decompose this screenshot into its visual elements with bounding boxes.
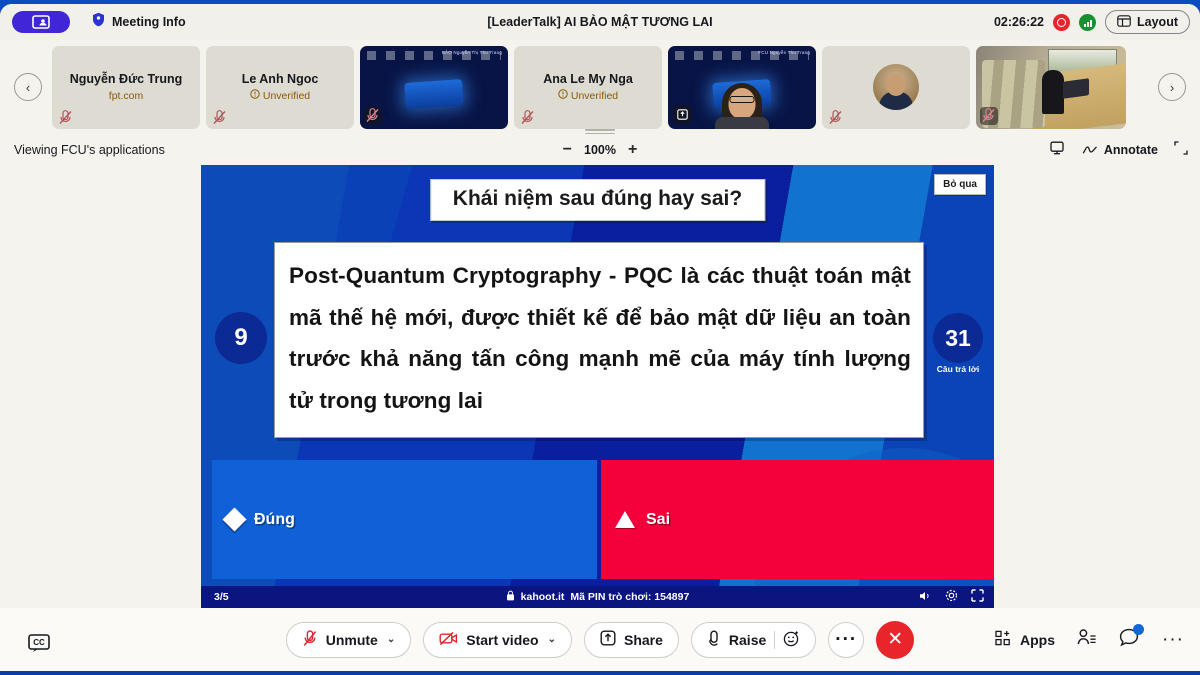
mic-off-icon — [980, 107, 998, 125]
lock-icon — [506, 590, 515, 604]
kahoot-footer: 3/5 kahoot.it Mã PIN trò chơi: 154897 — [201, 586, 994, 608]
closed-captions-button[interactable]: CC — [26, 632, 52, 654]
meeting-window: Meeting Info [LeaderTalk] AI BẢO MẬT TƯƠ… — [0, 4, 1200, 671]
triangle-icon — [615, 511, 635, 528]
kahoot-join-info: kahoot.it Mã PIN trò chơi: 154897 — [201, 590, 994, 604]
meeting-info-button[interactable]: Meeting Info — [92, 12, 186, 32]
participants-button[interactable] — [1077, 628, 1097, 651]
primary-controls: Unmute ⌄ Start video ⌄ Share — [286, 621, 915, 659]
participant-tile[interactable]: Ana Le My Nga Unverified — [514, 46, 662, 129]
participant-tile-video[interactable] — [976, 46, 1126, 129]
zoom-out-button[interactable]: − — [563, 142, 572, 158]
apps-grid-icon — [995, 630, 1012, 650]
unmute-label: Unmute — [326, 632, 378, 648]
chat-bubble-icon — [1119, 634, 1140, 651]
answers-count-value: 31 — [933, 313, 983, 363]
participant-tile[interactable]: Le Anh Ngoc Unverified — [206, 46, 354, 129]
participant-domain: fpt.com — [109, 90, 143, 102]
countdown-timer: 9 — [215, 312, 267, 364]
participant-status: Unverified — [250, 89, 310, 102]
fullscreen-icon[interactable] — [971, 589, 984, 605]
mic-off-icon — [212, 110, 227, 125]
chevron-down-icon[interactable]: ⌄ — [548, 634, 556, 645]
participant-name: Nguyễn Đức Trung — [70, 72, 183, 88]
kahoot-pin: Mã PIN trò chơi: 154897 — [570, 591, 689, 603]
fullscreen-icon[interactable] — [1174, 141, 1188, 160]
share-toolbar-right: Annotate — [1050, 134, 1188, 166]
chevron-right-icon: › — [1170, 80, 1174, 95]
question-card: Post-Quantum Cryptography - PQC là các t… — [274, 242, 924, 438]
viewing-label: Viewing FCU's applications — [14, 143, 165, 157]
chevron-left-icon: ‹ — [26, 80, 30, 95]
control-divider — [774, 631, 775, 649]
participant-tile[interactable] — [822, 46, 970, 129]
mic-off-icon — [302, 630, 318, 650]
view-options-icon[interactable] — [1050, 141, 1066, 160]
title-bar-right: 02:26:22 Layout — [994, 4, 1190, 40]
share-button[interactable]: Share — [584, 622, 679, 658]
participant-filmstrip: ‹ Nguyễn Đức Trung fpt.com Le Anh Ngoc U… — [0, 40, 1200, 134]
answers-count-caption: Câu trả lời — [937, 364, 979, 374]
mic-off-icon — [364, 107, 382, 125]
share-toolbar: Viewing FCU's applications − 100% + Anno… — [0, 134, 1200, 166]
participant-name: Ana Le My Nga — [543, 72, 633, 88]
filmstrip-next-button[interactable]: › — [1158, 73, 1186, 101]
close-icon: ✕ — [887, 628, 903, 651]
unverified-icon — [250, 89, 260, 102]
question-text: Post-Quantum Cryptography - PQC là các t… — [289, 255, 911, 422]
participant-tile-video[interactable]: FCU Nguyễn Thu Trang — [668, 46, 816, 129]
network-quality-icon[interactable] — [1079, 14, 1096, 31]
kahoot-footer-actions — [919, 589, 984, 605]
skip-button[interactable]: Bỏ qua — [934, 174, 986, 195]
gear-icon[interactable] — [945, 589, 958, 605]
camera-off-icon — [439, 631, 458, 649]
question-banner-text: Khái niệm sau đúng hay sai? — [453, 187, 742, 210]
zoom-level-label: 100% — [584, 143, 616, 157]
annotate-pen-icon — [1082, 142, 1098, 159]
secondary-controls: Apps ··· — [995, 608, 1184, 671]
room-person — [1042, 70, 1064, 114]
filmstrip-prev-button[interactable]: ‹ — [14, 73, 42, 101]
layout-button[interactable]: Layout — [1105, 10, 1190, 34]
hand-raise-icon — [707, 630, 721, 650]
raise-hand-button[interactable]: Raise — [691, 622, 816, 658]
person-glasses — [730, 96, 755, 103]
screen-root: Meeting Info [LeaderTalk] AI BẢO MẬT TƯƠ… — [0, 0, 1200, 675]
participant-name: Le Anh Ngoc — [242, 72, 319, 88]
answers-count-badge: 31 Câu trả lời — [930, 313, 986, 374]
pin-video-icon[interactable] — [673, 105, 692, 124]
svg-text:CC: CC — [33, 638, 45, 647]
volume-icon[interactable] — [919, 590, 932, 605]
shared-screen[interactable]: Khái niệm sau đúng hay sai? Bỏ qua Post-… — [201, 165, 994, 608]
participants-icon — [1077, 633, 1097, 650]
start-video-label: Start video — [466, 632, 538, 648]
person-face — [729, 88, 756, 119]
shield-icon — [92, 12, 105, 32]
chevron-down-icon[interactable]: ⌄ — [387, 634, 395, 645]
more-dots-icon: ··· — [835, 630, 857, 649]
zoom-controls: − 100% + — [0, 134, 1200, 166]
participant-status: Unverified — [558, 89, 618, 102]
slide-corner-text: FCU Nguyễn Thu Trang — [758, 50, 810, 55]
start-video-button[interactable]: Start video ⌄ — [423, 622, 572, 658]
person-body — [715, 117, 769, 129]
answer-label: Đúng — [254, 511, 295, 529]
answer-option-false[interactable]: Sai — [601, 460, 994, 579]
title-bar: Meeting Info [LeaderTalk] AI BẢO MẬT TƯƠ… — [0, 4, 1200, 40]
answer-option-true[interactable]: Đúng — [212, 460, 597, 579]
diamond-icon — [222, 507, 246, 531]
apps-button[interactable]: Apps — [995, 630, 1055, 650]
overflow-menu-button[interactable]: ··· — [1162, 630, 1184, 650]
meeting-info-label: Meeting Info — [112, 15, 186, 29]
mic-off-icon — [828, 110, 843, 125]
record-indicator-icon[interactable] — [1053, 14, 1070, 31]
participant-tile-video[interactable]: BẢO Nguyễn Thị Thu Trang — [360, 46, 508, 129]
unmute-button[interactable]: Unmute ⌄ — [286, 622, 412, 658]
share-screen-icon — [600, 630, 616, 649]
unverified-icon — [558, 89, 568, 102]
layout-label: Layout — [1137, 15, 1178, 29]
annotate-label: Annotate — [1104, 143, 1158, 157]
meeting-controls: CC Unmute ⌄ Start video ⌄ — [0, 608, 1200, 671]
mic-off-icon — [520, 110, 535, 125]
slide-graphic — [404, 79, 464, 109]
share-label: Share — [624, 632, 663, 648]
meeting-timer: 02:26:22 — [994, 15, 1044, 29]
closed-captions-icon: CC — [26, 632, 52, 654]
apps-label: Apps — [1020, 632, 1055, 648]
annotate-button[interactable]: Annotate — [1082, 142, 1158, 159]
more-dots-icon: ··· — [1162, 629, 1184, 650]
participant-status-label: Unverified — [571, 90, 618, 102]
zoom-in-button[interactable]: + — [628, 142, 637, 158]
mic-off-icon — [58, 110, 73, 125]
slide-corner-text: BẢO Nguyễn Thị Thu Trang — [442, 50, 502, 55]
raise-label: Raise — [729, 632, 766, 648]
chat-unread-badge — [1133, 624, 1144, 635]
answer-label: Sai — [646, 511, 670, 529]
chat-button[interactable] — [1119, 628, 1140, 652]
avatar — [873, 64, 919, 110]
participant-tile[interactable]: Nguyễn Đức Trung fpt.com — [52, 46, 200, 129]
participant-status-label: Unverified — [263, 90, 310, 102]
screen-share-indicator[interactable] — [12, 11, 70, 33]
question-banner: Khái niệm sau đúng hay sai? — [430, 179, 765, 221]
end-meeting-button[interactable]: ✕ — [876, 621, 914, 659]
more-controls-button[interactable]: ··· — [828, 622, 864, 658]
screen-share-icon — [32, 15, 50, 29]
kahoot-site: kahoot.it — [521, 591, 565, 603]
emoji-reaction-icon[interactable] — [783, 630, 800, 650]
layout-icon — [1117, 15, 1131, 30]
